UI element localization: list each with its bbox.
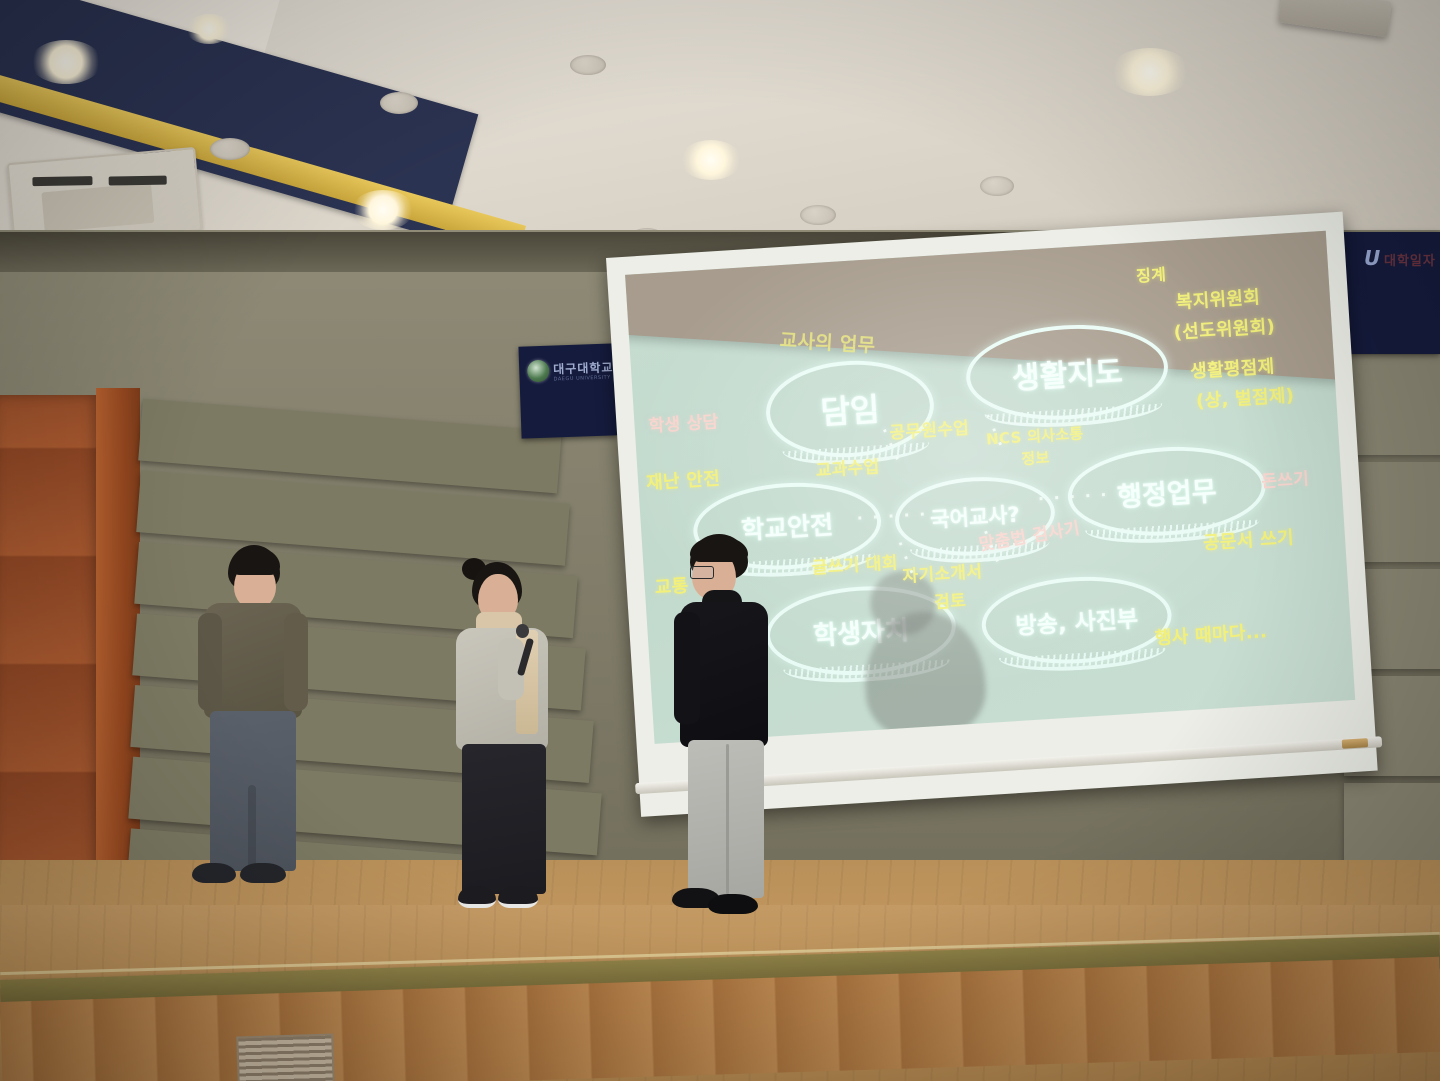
presenter-right-arm: [674, 612, 700, 724]
note-haksaeng-sangdam: 학생 상담: [648, 407, 719, 436]
note-geomto: 검토: [933, 586, 966, 613]
ceiling-projector: [1278, 0, 1392, 37]
ceiling-speaker-4: [800, 205, 836, 225]
note-jinggye: 징계: [1135, 261, 1166, 287]
note-saenghwal-pyeongjeomje: 생활평점제: [1189, 352, 1275, 383]
presenter-left-shoe-right: [240, 863, 286, 883]
ceiling-speaker-6: [980, 176, 1014, 196]
note-bokji-wiwonhoe: 복지위원회: [1175, 283, 1261, 314]
presenter-right-fringe: [690, 536, 748, 562]
downlight-1: [30, 40, 102, 84]
note-sang-beoljeomje: (상, 벌점제): [1195, 381, 1295, 413]
downlight-2: [352, 190, 414, 230]
note-don-sseugi: 돈쓰기: [1260, 464, 1309, 492]
banner-left-daegu-university: 대구대학교 DAEGU UNIVERSITY: [518, 343, 617, 438]
note-gongmunseo-sseugi: 공문서 쓰기: [1202, 523, 1294, 555]
downlight-3: [680, 140, 742, 180]
ceiling-speaker-2: [380, 92, 418, 114]
bubble-haengjeong-eommu-label: 행정업무: [1116, 469, 1218, 514]
note-jaenan-anjeon: 재난 안전: [645, 464, 721, 495]
note-jeongbo: 정보: [1021, 447, 1050, 470]
auditorium-photo-scene: 대구대학교 DAEGU UNIVERSITY U 대학일자 교사의 업무 담임 …: [0, 0, 1440, 1081]
banner-right-kr-text: 대학일자: [1384, 250, 1436, 269]
screen-roller-end-cap: [1342, 738, 1369, 749]
bubble-bangsong-sajinbu: 방송, 사진부: [979, 571, 1174, 669]
presenter-left-shoe-left: [192, 863, 236, 883]
note-gyogwa-sueop: 교과수업: [815, 452, 880, 481]
note-gongmuwon-sueop: 공무원수업: [889, 414, 970, 444]
bubble-damim-label: 담임: [819, 384, 881, 434]
university-emblem-icon: [527, 360, 550, 383]
presenter-left: [186, 545, 316, 910]
left-wood-paneling: [0, 395, 100, 935]
presenter-left-arm-right: [284, 613, 308, 711]
presenter-left-leg-gap: [248, 785, 256, 871]
presenter-left-arm-left: [198, 613, 222, 711]
bubble-saenghwal-jido-label: 생활지도: [1011, 347, 1124, 398]
acoustic-panel-r1: [1344, 355, 1440, 455]
presenter-right-leg-seam: [726, 744, 729, 894]
note-haengsa-ttaemada: 행사 때마다...: [1154, 617, 1268, 650]
presenter-left-fringe: [230, 547, 280, 575]
presenter-center-shoe-left: [458, 886, 496, 908]
ceiling-speaker-1: [210, 138, 250, 160]
glasses-icon: [690, 566, 714, 579]
ceiling-speaker-3: [570, 55, 606, 75]
slide-title-partial: 교사의 업무: [779, 325, 876, 358]
presenter-center: [440, 556, 560, 914]
downlight-5: [186, 14, 232, 44]
note-geulsseugi-daehoe: 글쓰기 대회: [811, 548, 898, 578]
presenter-center-shoe-right: [498, 886, 538, 908]
banner-right-logo-icon: U: [1364, 246, 1380, 270]
downlight-4: [1110, 48, 1190, 96]
banner-left-en-text: DAEGU UNIVERSITY: [553, 375, 610, 383]
stage-floor-vent-grille: [236, 1033, 335, 1081]
presenter-center-pants: [462, 744, 546, 894]
bubble-bangsong-sajinbu-label: 방송, 사진부: [1014, 599, 1138, 641]
ac-vent-panel: [41, 183, 154, 232]
bubble-damim: 담임: [763, 356, 937, 462]
microphone-head-icon[interactable]: [516, 624, 529, 638]
presenter-right: [668, 534, 788, 924]
presenter-right-shoe-right: [708, 894, 758, 914]
